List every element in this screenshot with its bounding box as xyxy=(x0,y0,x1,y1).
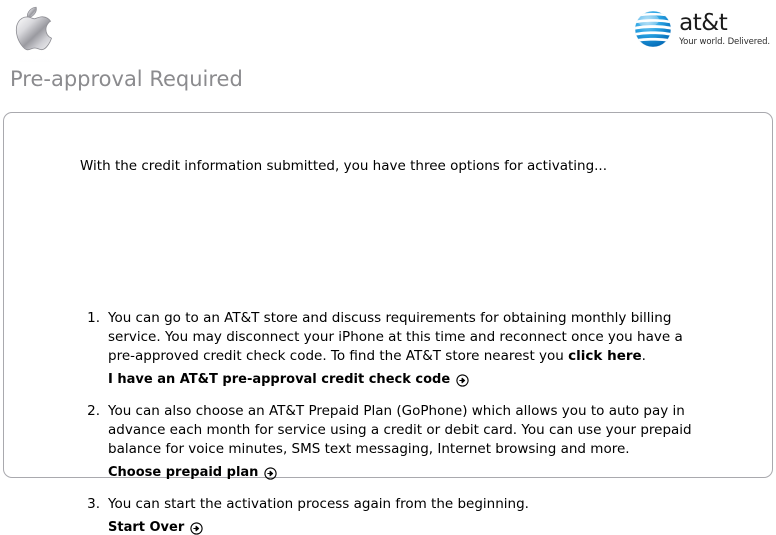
circle-arrow-right-icon xyxy=(456,374,469,387)
page-header: at&t Your world. Delivered. Pre-approval… xyxy=(0,0,776,110)
option-number: 1. xyxy=(80,309,108,328)
intro-text: With the credit information submitted, y… xyxy=(80,158,607,174)
option-item-3: 3. You can start the activation process … xyxy=(80,495,695,535)
att-brand-name: at&t xyxy=(679,12,770,35)
option-action-link[interactable]: I have an AT&T pre-approval credit check… xyxy=(108,372,469,387)
att-wordmark: at&t Your world. Delivered. xyxy=(679,12,770,47)
option-action-label: Choose prepaid plan xyxy=(108,465,258,480)
circle-arrow-right-icon xyxy=(190,522,203,535)
option-action-link[interactable]: Choose prepaid plan xyxy=(108,465,277,480)
option-action-label: I have an AT&T pre-approval credit check… xyxy=(108,372,450,387)
apple-logo xyxy=(8,4,60,62)
option-text: You can go to an AT&T store and discuss … xyxy=(108,309,695,366)
circle-arrow-right-icon xyxy=(264,467,277,480)
option-item-1: 1. You can go to an AT&T store and discu… xyxy=(80,309,695,387)
option-text: You can also choose an AT&T Prepaid Plan… xyxy=(108,402,695,459)
att-tagline: Your world. Delivered. xyxy=(679,38,770,47)
att-globe-icon xyxy=(633,9,673,49)
option-number: 2. xyxy=(80,402,108,421)
page-title: Pre-approval Required xyxy=(10,67,243,91)
att-logo: at&t Your world. Delivered. xyxy=(633,8,770,50)
option-action-label: Start Over xyxy=(108,520,184,535)
content-panel: With the credit information submitted, y… xyxy=(3,112,773,478)
option-action-link[interactable]: Start Over xyxy=(108,520,203,535)
option-item-2: 2. You can also choose an AT&T Prepaid P… xyxy=(80,402,695,480)
